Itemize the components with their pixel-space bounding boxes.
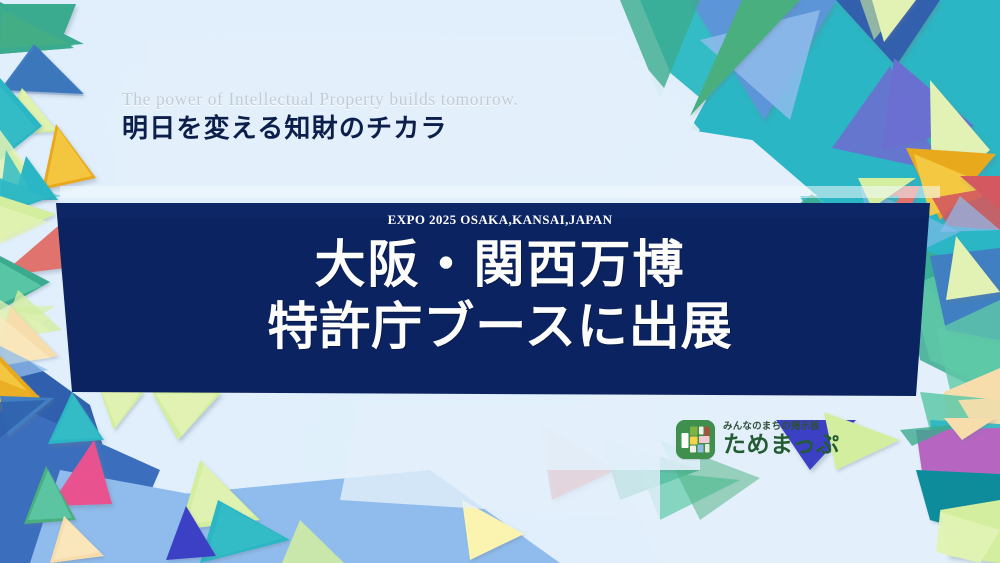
headline-banner: EXPO 2025 OSAKA,KANSAI,JAPAN 大阪・関西万博 特許庁… bbox=[0, 196, 1000, 402]
logo-subtitle: みんなのまちの掲示板 bbox=[723, 422, 840, 432]
bulletin-board-icon bbox=[676, 420, 715, 459]
logo-text-block: みんなのまちの掲示板 ためまっぷ bbox=[723, 422, 840, 458]
banner-title: 大阪・関西万博 特許庁ブースに出展 bbox=[267, 234, 732, 358]
tagline-block: The power of Intellectual Property build… bbox=[122, 90, 518, 145]
banner-title-line1: 大阪・関西万博 bbox=[267, 234, 732, 296]
banner-title-line2: 特許庁ブースに出展 bbox=[267, 296, 732, 358]
tagline-japanese: 明日を変える知財のチカラ bbox=[122, 115, 518, 145]
poster-canvas: The power of Intellectual Property build… bbox=[0, 0, 1000, 563]
tagline-english: The power of Intellectual Property build… bbox=[122, 90, 518, 109]
banner-eyebrow: EXPO 2025 OSAKA,KANSAI,JAPAN bbox=[388, 212, 613, 228]
tamemap-logo[interactable]: みんなのまちの掲示板 ためまっぷ bbox=[676, 420, 840, 459]
logo-name: ためまっぷ bbox=[723, 434, 840, 457]
